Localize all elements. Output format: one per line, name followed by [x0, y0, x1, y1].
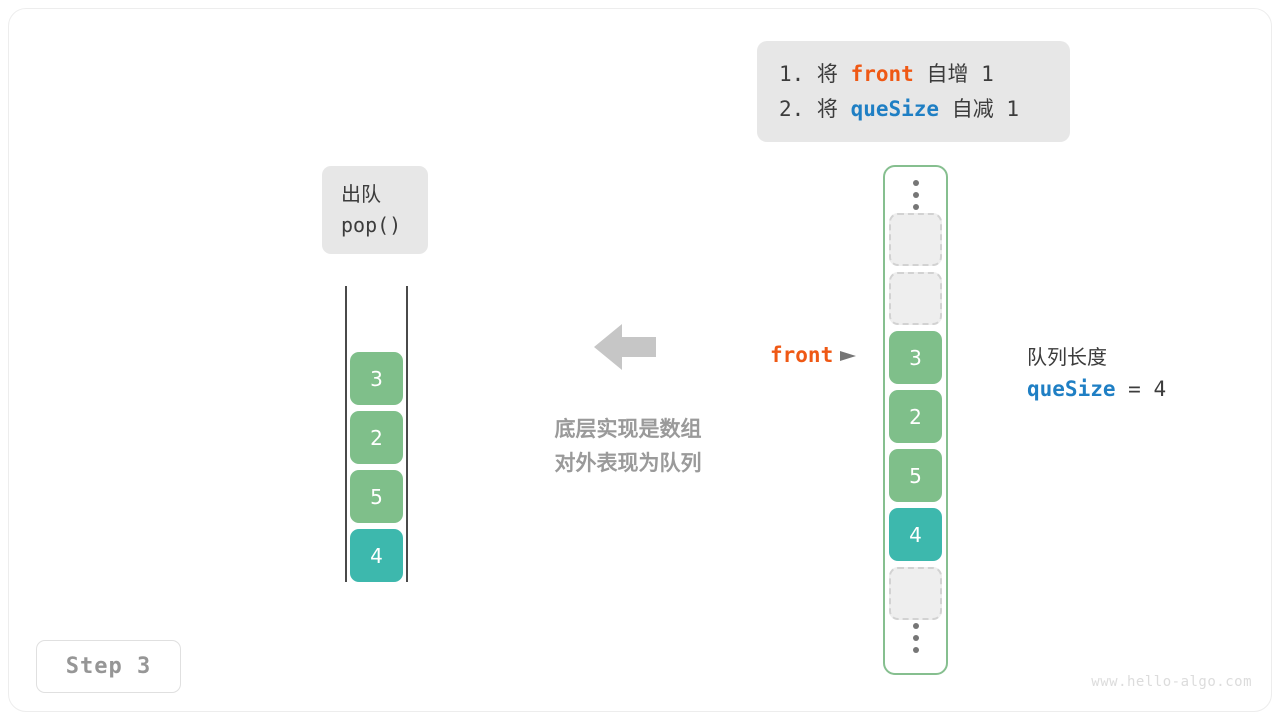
operation-label-box: 出队 pop(): [322, 166, 428, 254]
queue-size-expression: queSize = 4: [1027, 372, 1166, 406]
front-pointer: front: [770, 343, 856, 367]
array-cell: 5: [889, 449, 942, 502]
array-cell: [889, 213, 942, 266]
queue-cell: 4: [350, 529, 403, 582]
array-cell: 2: [889, 390, 942, 443]
ellipsis-top-icon: [913, 180, 919, 210]
queue-size-title: 队列长度: [1027, 342, 1166, 372]
caption-line-2: 对外表现为队列: [528, 446, 728, 480]
operation-method: pop(): [341, 210, 428, 241]
front-pointer-label: front: [770, 343, 833, 367]
instruction-line-2-keyword: queSize: [851, 97, 940, 121]
instruction-line-1-suffix: 自增 1: [914, 62, 994, 86]
array-container: 3 2 5 4: [883, 165, 948, 675]
step-badge: Step 3: [36, 640, 181, 693]
arrow-left-icon: [594, 322, 656, 372]
step-badge-label: Step 3: [66, 654, 151, 679]
queue-size-note: 队列长度 queSize = 4: [1027, 342, 1166, 406]
array-cell: 3: [889, 331, 942, 384]
arrow-right-small-icon: [840, 348, 856, 362]
diagram-canvas: 1. 将 front 自增 1 2. 将 queSize 自减 1 出队 pop…: [0, 0, 1280, 720]
operation-title: 出队: [341, 179, 428, 210]
instruction-line-2-suffix: 自减 1: [939, 97, 1019, 121]
ellipsis-bottom-icon: [913, 623, 919, 653]
watermark: www.hello-algo.com: [1091, 674, 1252, 690]
abstract-queue-cells: 3 2 5 4: [345, 352, 408, 582]
instruction-line-2: 2. 将 queSize 自减 1: [779, 92, 1048, 127]
center-caption: 底层实现是数组 对外表现为队列: [528, 412, 728, 480]
queue-size-variable: queSize: [1027, 377, 1116, 401]
array-cell: 4: [889, 508, 942, 561]
array-cell: [889, 567, 942, 620]
queue-cell: 2: [350, 411, 403, 464]
instruction-line-1: 1. 将 front 自增 1: [779, 57, 1048, 92]
queue-size-equals: =: [1116, 377, 1154, 401]
queue-cell: 3: [350, 352, 403, 405]
abstract-queue: 3 2 5 4: [345, 286, 408, 582]
instruction-line-2-prefix: 2. 将: [779, 97, 851, 121]
caption-line-1: 底层实现是数组: [528, 412, 728, 446]
queue-cell: 5: [350, 470, 403, 523]
array-cell: [889, 272, 942, 325]
instruction-line-1-keyword: front: [851, 62, 914, 86]
instruction-box: 1. 将 front 自增 1 2. 将 queSize 自减 1: [757, 41, 1070, 142]
queue-size-value: 4: [1153, 377, 1166, 401]
instruction-line-1-prefix: 1. 将: [779, 62, 851, 86]
